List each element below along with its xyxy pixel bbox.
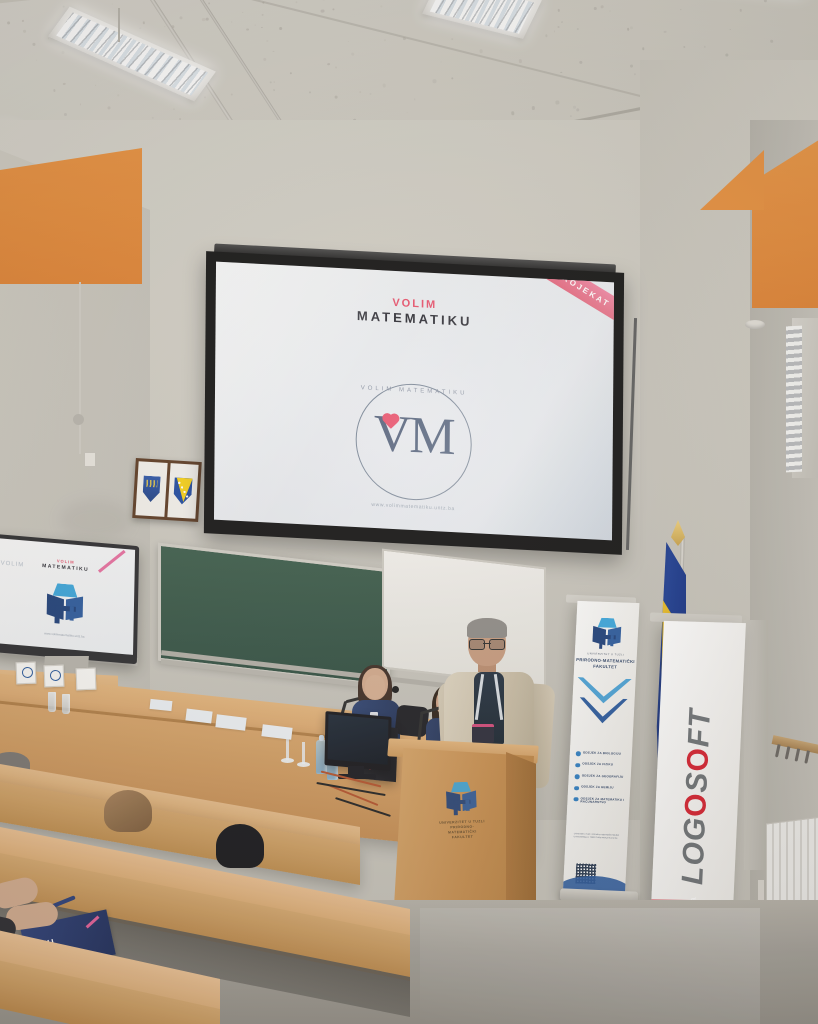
bullet-icon xyxy=(576,752,581,757)
door-frame xyxy=(744,620,768,870)
lanyard xyxy=(476,674,502,726)
pmf-cube-logo xyxy=(42,582,87,628)
table-nameplate xyxy=(44,665,65,688)
projected-slide: VOLIM MATEMATIKU PROJEKAT VOLIM MATEMATI… xyxy=(214,262,614,541)
table-nameplate xyxy=(16,662,37,685)
orange-wall-accent-left xyxy=(0,148,142,284)
wall-display-tv: VOLIM VOLIM MATEMATIKU www.volimmatemati… xyxy=(0,534,139,664)
bullet-icon xyxy=(574,786,579,791)
podium-faculty-line2: FAKULTET xyxy=(437,834,489,841)
face xyxy=(365,675,385,699)
department-label: ODSJEK ZA FIZIKU xyxy=(582,763,613,768)
glass-stem xyxy=(286,738,289,760)
banner-faculty: PRIRODNO-MATEMATIČKI FAKULTET xyxy=(574,657,637,671)
vm-monogram: VM xyxy=(356,407,472,465)
list-item: ODSJEK ZA FIZIKU xyxy=(575,763,627,770)
tv-slide-url: www.volimmatematiku.untz.ba xyxy=(0,627,133,643)
pmf-cube-logo xyxy=(589,617,625,650)
pmf-cube-logo xyxy=(443,781,480,816)
podium-logo-text: UNIVERZITET U TUZLI PRIRODNO-MATEMATIČKI… xyxy=(436,819,489,841)
glass-stem xyxy=(302,742,305,764)
hair xyxy=(104,790,152,832)
bullet-icon xyxy=(575,763,580,768)
lecture-hall-photo: VOLIM MATEMATIKU PROJEKAT VOLIM MATEMATI… xyxy=(0,0,818,1024)
bosnia-coat-of-arms xyxy=(167,463,199,519)
tuzla-canton-crest xyxy=(135,461,167,517)
audience-person xyxy=(216,824,264,870)
drinking-glass xyxy=(62,694,70,714)
podium-pmf-logo: UNIVERZITET U TUZLI PRIRODNO-MATEMATIČKI… xyxy=(435,781,490,857)
drinking-glass xyxy=(48,692,56,712)
tv-screen-content: VOLIM VOLIM MATEMATIKU www.volimmatemati… xyxy=(0,538,135,655)
list-item: ODSJEK ZA MATEMATIKU I RAČUNARSTVO xyxy=(573,797,625,807)
department-label: ODSJEK ZA HEMIJU xyxy=(581,786,614,791)
banner-chevron-graphic xyxy=(575,677,632,741)
bullet-icon xyxy=(573,797,578,802)
light-switch[interactable] xyxy=(84,452,96,467)
wall-cable xyxy=(79,282,81,454)
monitor-screen xyxy=(328,714,389,764)
hair xyxy=(216,824,264,868)
logosoft-wordmark: LOGOSOFT xyxy=(676,708,718,885)
wall-stain xyxy=(60,500,130,540)
logosoft-part1: LOG xyxy=(676,816,712,885)
projection-screen: VOLIM MATEMATIKU PROJEKAT VOLIM MATEMATI… xyxy=(204,251,624,555)
framed-coat-of-arms-pair xyxy=(132,458,202,522)
department-label: ODSJEK ZA GEOGRAFIJU xyxy=(582,774,624,779)
audience-person xyxy=(104,790,156,834)
slide-title: VOLIM MATEMATIKU xyxy=(216,288,614,338)
logosoft-part4: O xyxy=(681,747,715,772)
glass-foot xyxy=(297,762,310,767)
floor-reflection xyxy=(420,908,760,1024)
smoke-detector-icon xyxy=(745,320,765,329)
department-label: ODSJEK ZA MATEMATIKU I RAČUNARSTVO xyxy=(580,797,625,806)
banner-department-list: ODSJEK ZA BIOLOGIJU ODSJEK ZA FIZIKU ODS… xyxy=(573,751,628,813)
paper-sheet xyxy=(150,699,173,711)
vm-circular-logo: VOLIM MATEMATIKU VM xyxy=(355,381,472,503)
conference-badge xyxy=(472,724,494,743)
logosoft-part2: O xyxy=(679,792,713,817)
list-item: ODSJEK ZA BIOLOGIJU xyxy=(576,751,628,758)
table-nameplate xyxy=(76,668,97,691)
list-item: ODSJEK ZA HEMIJU xyxy=(574,785,626,792)
logosoft-part3: S xyxy=(680,771,714,793)
computer-monitor xyxy=(324,711,391,771)
lamp-hanger-rod xyxy=(118,8,120,42)
window-blinds-slats xyxy=(786,326,802,473)
wall-cable-anchor xyxy=(73,414,84,425)
list-item: ODSJEK ZA GEOGRAFIJU xyxy=(575,774,627,781)
logosoft-part5: FT xyxy=(682,708,717,748)
glass-foot xyxy=(281,758,294,763)
eyeglasses-icon xyxy=(469,639,505,648)
hair xyxy=(467,618,507,638)
banner-fine-print: Univerzitet u Tuzli • Prirodno-matematič… xyxy=(574,833,622,841)
department-label: ODSJEK ZA BIOLOGIJU xyxy=(583,751,621,756)
bullet-icon xyxy=(575,774,580,779)
